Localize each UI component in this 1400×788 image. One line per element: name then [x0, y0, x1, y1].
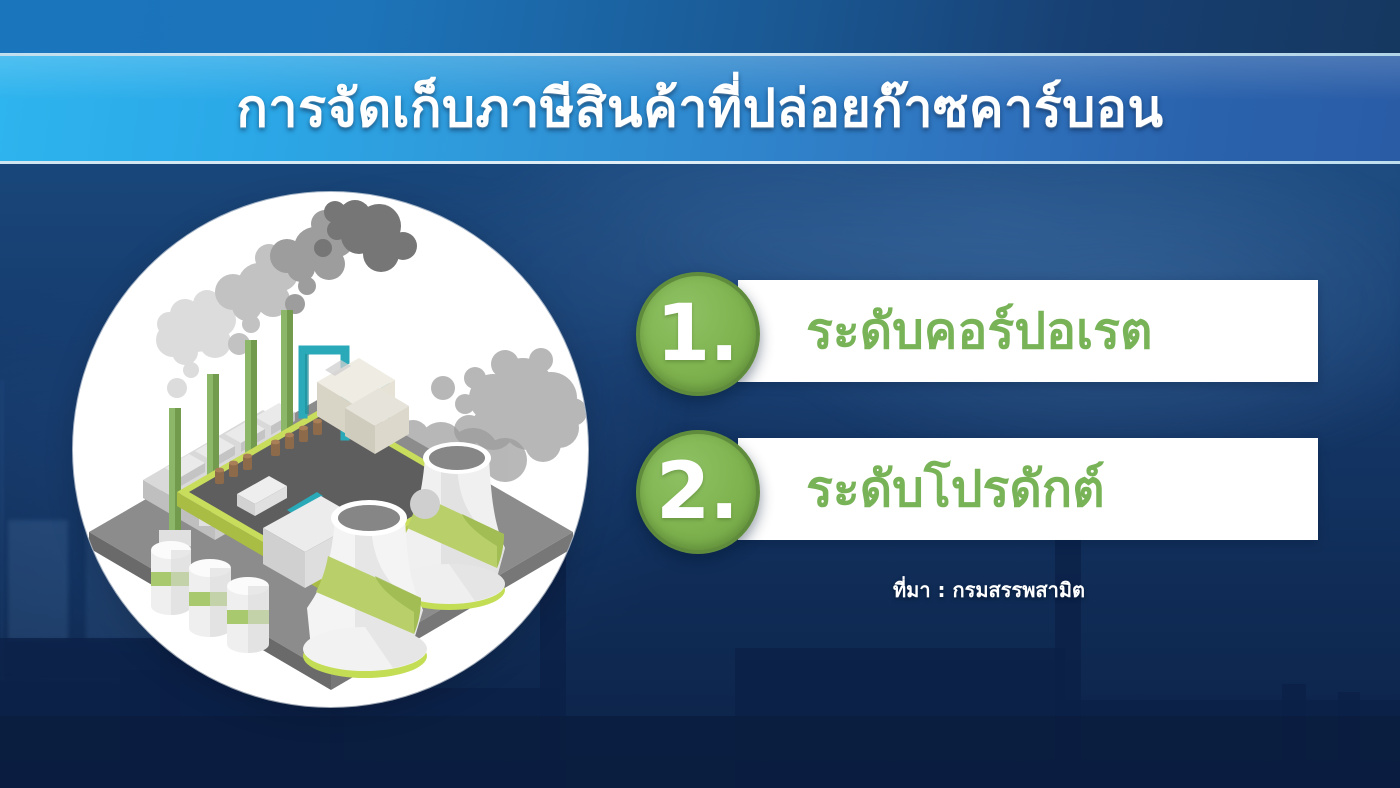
list-item[interactable]: ระดับคอร์ปอเรต 1.	[636, 272, 1336, 384]
source-credit: ที่มา : กรมสรรพสามิต	[893, 574, 1085, 606]
header-top-band	[0, 0, 1400, 54]
header-divider-bottom	[0, 161, 1400, 164]
isometric-factory-illustration	[73, 192, 588, 707]
list-item-number-badge: 2.	[636, 430, 760, 554]
header-banner: การจัดเก็บภาษีสินค้าที่ปล่อยก๊าซคาร์บอน	[0, 0, 1400, 165]
list-item-bar: ระดับคอร์ปอเรต	[738, 280, 1318, 382]
spherical-tank	[410, 489, 440, 519]
slide-canvas: การจัดเก็บภาษีสินค้าที่ปล่อยก๊าซคาร์บอน	[0, 0, 1400, 788]
list-item-label: ระดับโปรดักต์	[738, 464, 1105, 514]
silo	[189, 559, 231, 637]
illustration-circle	[73, 192, 588, 707]
list-item-label: ระดับคอร์ปอเรต	[738, 306, 1152, 356]
list-container: ระดับคอร์ปอเรต 1. ระดับโปรดักต์ 2.	[636, 272, 1336, 588]
page-title: การจัดเก็บภาษีสินค้าที่ปล่อยก๊าซคาร์บอน	[0, 56, 1400, 161]
list-item-number-badge: 1.	[636, 272, 760, 396]
list-item-bar: ระดับโปรดักต์	[738, 438, 1318, 540]
silo	[227, 577, 269, 653]
silo	[151, 541, 191, 615]
list-item-number: 1.	[656, 295, 740, 373]
list-item-number: 2.	[656, 453, 740, 531]
list-item[interactable]: ระดับโปรดักต์ 2.	[636, 430, 1336, 542]
